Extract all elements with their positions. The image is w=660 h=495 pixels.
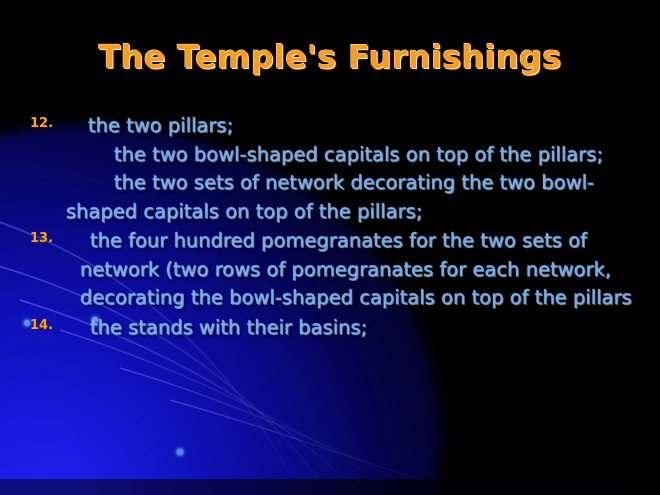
list-item-paragraph: the two sets of network decorating the t… (66, 169, 642, 226)
list-item-paragraph: the two pillars; (80, 112, 642, 141)
list-item-number: 12. (30, 116, 72, 131)
list-item-paragraph: the four hundred pomegranates for the tw… (80, 227, 642, 313)
list-item: 13. the four hundred pomegranates for th… (30, 227, 642, 313)
list-item-paragraph: the stands with their basins; (80, 314, 642, 343)
list-item-number: 13. (30, 231, 72, 246)
list-item-number: 14. (30, 318, 72, 333)
list-item: 14. the stands with their basins; (30, 314, 642, 343)
bottom-edge-shade (0, 479, 660, 495)
list-item-paragraph: the two bowl-shaped capitals on top of t… (66, 141, 642, 170)
presentation-slide: The Temple's Furnishings 12. the two pil… (0, 0, 660, 495)
list-item: 12. the two pillars; the two bowl-shaped… (30, 112, 642, 226)
slide-body-list: 12. the two pillars; the two bowl-shaped… (30, 112, 642, 343)
slide-title: The Temple's Furnishings (0, 38, 660, 76)
